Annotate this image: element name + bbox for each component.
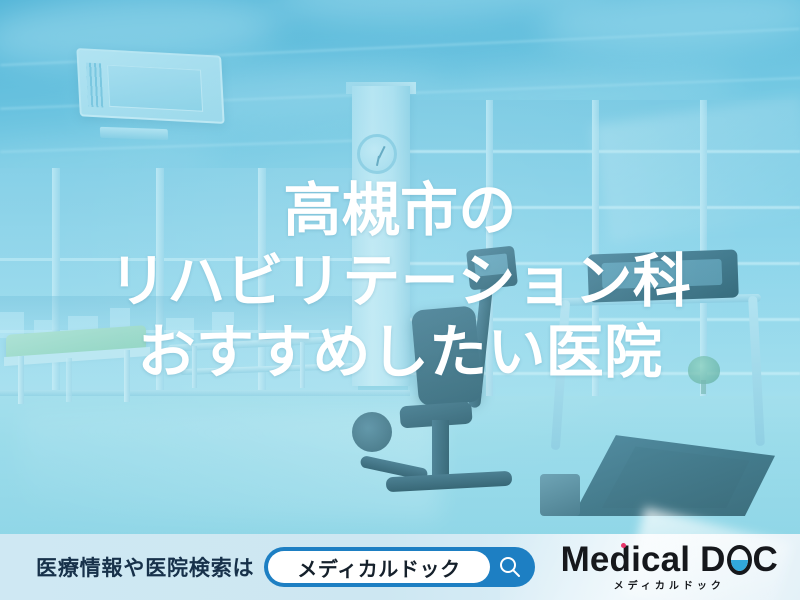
brand-name-part2: C [753, 540, 778, 579]
brand-subtitle: メディカルドック [561, 582, 778, 592]
search-button[interactable] [495, 552, 525, 582]
banner-page: 高槻市の リハビリテーション科 おすすめしたい医院 医療情報や医院検索は メディ… [0, 0, 800, 600]
brand-capsule-o-icon [727, 545, 752, 575]
brand-name: Medical DC [561, 542, 778, 577]
page-title: 高槻市の リハビリテーション科 おすすめしたい医院 [0, 176, 800, 388]
search-input-value: メディカルドック [297, 553, 460, 582]
page-title-line-3: おすすめしたい医院 [0, 318, 800, 389]
search-icon [497, 554, 523, 580]
footer-bar: 医療情報や医院検索は メディカルドック Medical DC メディカルドック [0, 534, 800, 600]
search-input[interactable]: メディカルドック [268, 551, 490, 583]
brand-logo[interactable]: Medical DC メディカルドック [561, 542, 778, 592]
brand-accent-dot [621, 543, 626, 548]
footer-lead-text: 医療情報や医院検索は [36, 552, 254, 582]
page-title-line-2: リハビリテーション科 [0, 247, 800, 318]
brand-name-part1: Medical D [561, 540, 726, 579]
page-title-line-1: 高槻市の [0, 176, 800, 247]
search-bar[interactable]: メディカルドック [264, 547, 535, 587]
